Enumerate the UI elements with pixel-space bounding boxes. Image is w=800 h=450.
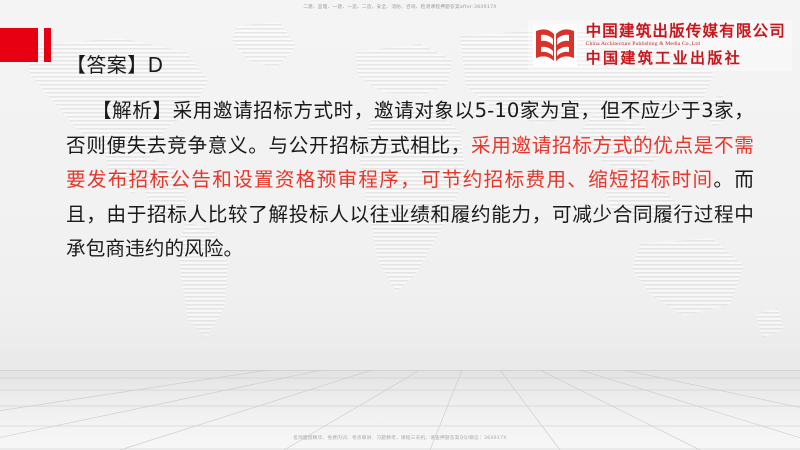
floor-haze: [0, 320, 800, 370]
slide-content: 【答案】D 【解析】采用邀请招标方式时，邀请对象以5-10家为宜，但不应少于3家…: [0, 50, 800, 267]
analysis-paragraph: 【解析】采用邀请招标方式时，邀请对象以5-10家为宜，但不应少于3家，否则便失去…: [66, 94, 754, 267]
logo-company-en: China Architecture Publishing & Media Co…: [586, 42, 786, 48]
answer-value: D: [148, 53, 164, 77]
slide-canvas: 二建、监理、一建、一造、二造、安全、消防、咨询、检测课程押题答案after:36…: [0, 0, 800, 450]
footer-watermark: 名师面授精华、免费内训、考点串讲、习题精考、课程三天机、请查押题答案QQ/微信：…: [0, 435, 800, 441]
header-watermark: 二建、监理、一建、一造、二造、安全、消防、咨询、检测课程押题答案after:36…: [0, 4, 800, 10]
analysis-label: 【解析】: [66, 99, 173, 122]
logo-company-cn: 中国建筑出版传媒有限公司: [586, 24, 786, 40]
answer-line: 【答案】D: [66, 50, 754, 80]
answer-label: 【答案】: [66, 53, 148, 77]
